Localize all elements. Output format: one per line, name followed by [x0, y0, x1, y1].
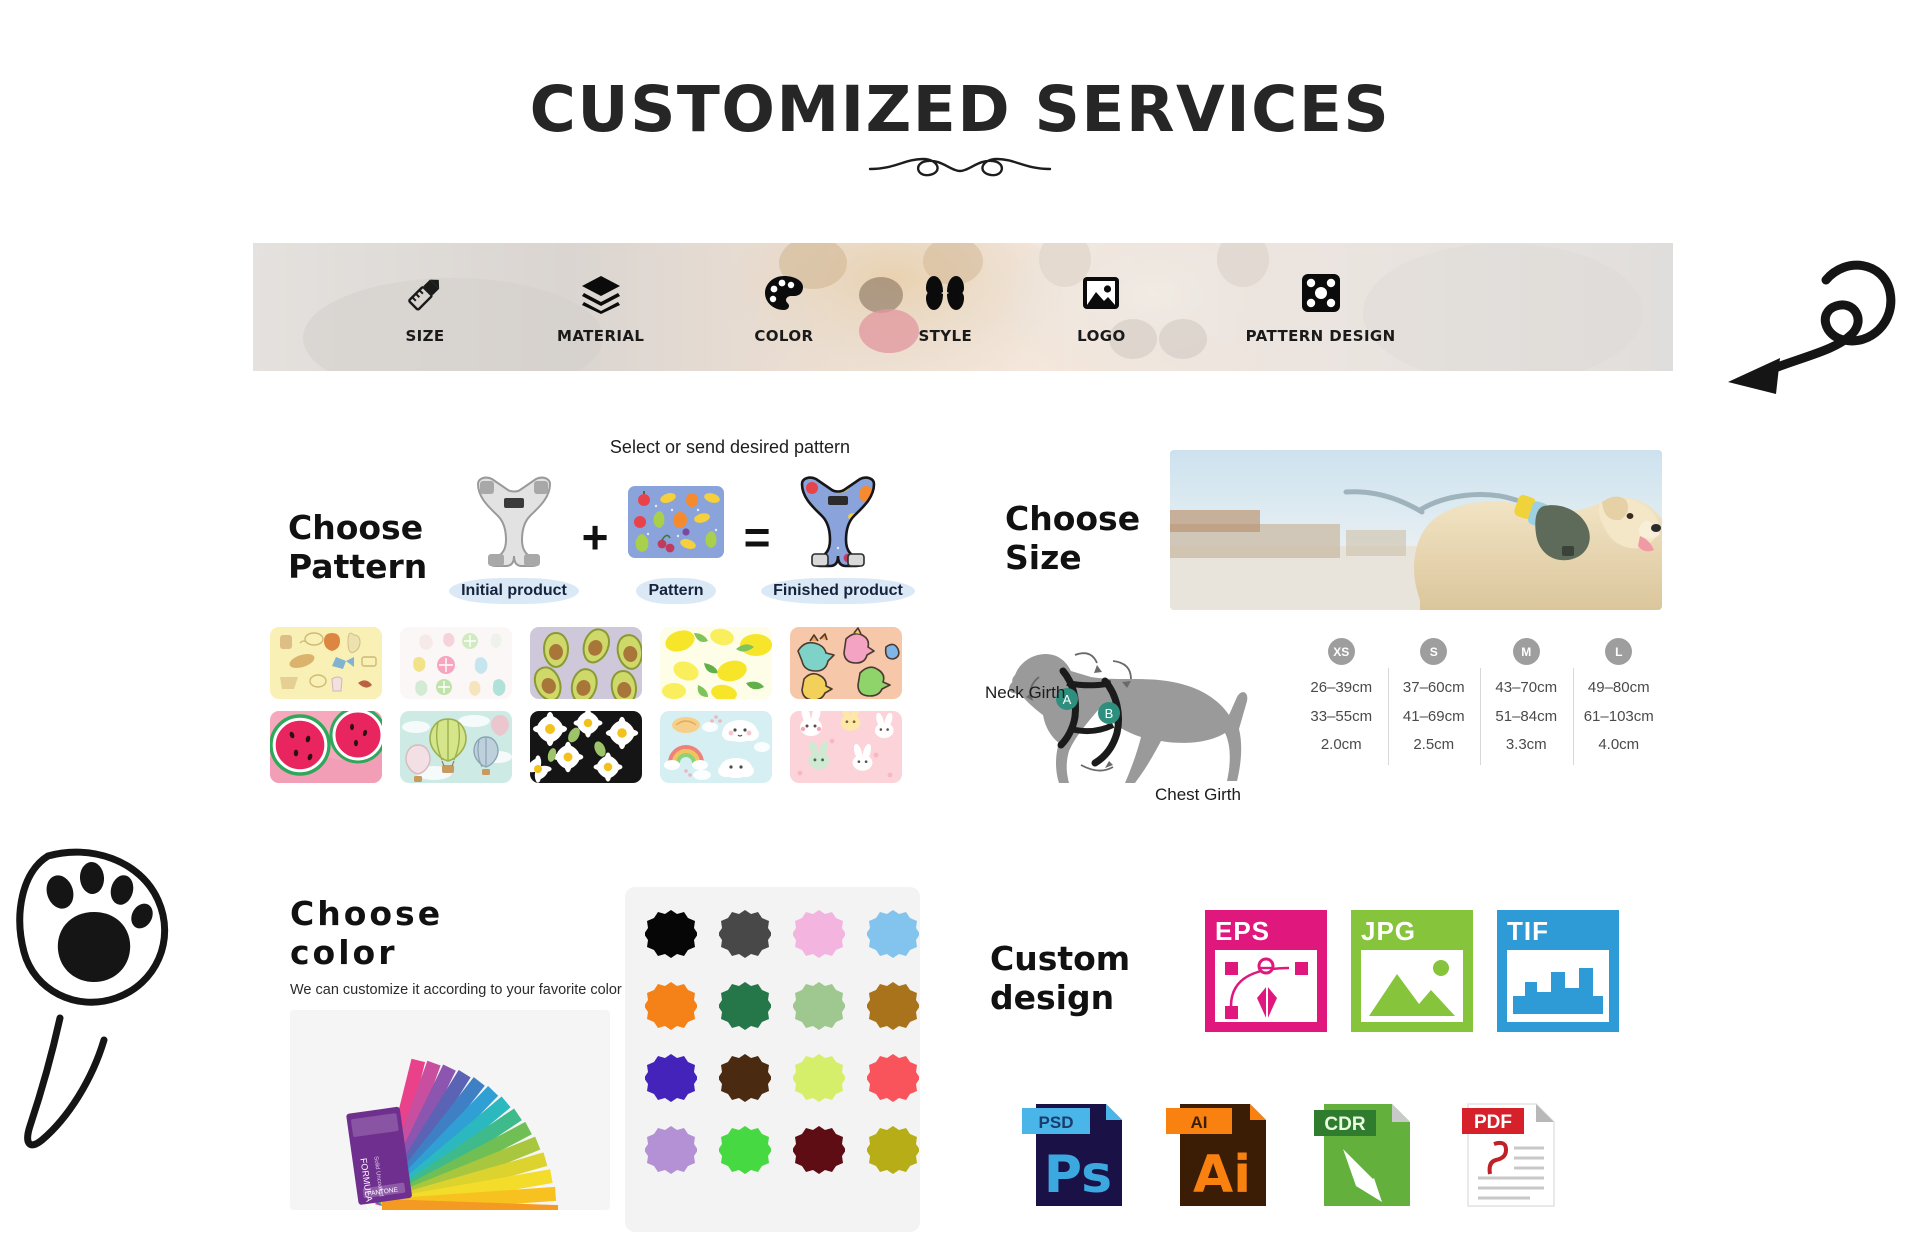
format-label: JPG	[1361, 916, 1416, 947]
service-label: STYLE	[918, 327, 972, 345]
color-swatch-orange[interactable]	[645, 981, 697, 1033]
size-badge: S	[1420, 638, 1447, 665]
butterfly-icon	[923, 270, 967, 316]
neck-girth-label: Neck Girth	[985, 683, 1065, 703]
app-mark: Ps	[1044, 1145, 1112, 1205]
color-swatch-lime-yellow[interactable]	[793, 1053, 845, 1105]
pattern-swatch-watermelon[interactable]	[270, 711, 382, 783]
paint-palette-icon	[762, 270, 806, 316]
flow-node-label: Pattern	[636, 578, 715, 604]
width-value: 3.3cm	[1506, 731, 1547, 760]
pattern-swatch-daisy-black[interactable]	[530, 711, 642, 783]
pattern-swatch-dinosaur[interactable]	[790, 627, 902, 699]
service-item-logo[interactable]: LOGO	[1077, 270, 1125, 345]
pattern-swatch-pastel-fruit[interactable]	[400, 627, 512, 699]
format-label: PDF	[1474, 1112, 1512, 1133]
color-swatch-forest-green[interactable]	[719, 981, 771, 1033]
format-card-ai[interactable]: AI Ai	[1164, 1088, 1272, 1210]
size-badge: M	[1513, 638, 1540, 665]
flow-node-initial-product: Initial product	[455, 470, 573, 604]
neck-value: 49–80cm	[1588, 674, 1650, 703]
choose-pattern-title: Choose Pattern	[288, 509, 458, 586]
color-swatch-dark-grey[interactable]	[719, 909, 771, 961]
format-label: CDR	[1324, 1114, 1365, 1135]
size-column-xs: XS 26–39cm 33–55cm 2.0cm	[1295, 638, 1388, 773]
page-title: CUSTOMIZED SERVICES	[0, 78, 1920, 141]
pattern-swatch-grid	[270, 627, 902, 783]
doc-format-list: PSD Ps AI Ai CDR	[1020, 1088, 1560, 1210]
labrador-with-leash-photo	[1170, 450, 1662, 610]
color-swatch-card	[625, 887, 920, 1232]
paw-print-icon	[8, 828, 198, 1158]
service-item-size[interactable]: SIZE	[403, 270, 447, 345]
color-swatch-black[interactable]	[645, 909, 697, 961]
pattern-swatch-avocado[interactable]	[530, 627, 642, 699]
size-column-s: S 37–60cm 41–69cm 2.5cm	[1388, 638, 1481, 773]
chest-value: 51–84cm	[1495, 703, 1557, 732]
ruler-pencil-icon	[403, 270, 447, 316]
service-icon-strip: SIZE MATERIAL	[253, 243, 1673, 371]
pattern-swatch-pink-bunny[interactable]	[790, 711, 902, 783]
curved-arrow-icon	[1718, 250, 1918, 450]
svg-text:B: B	[1105, 706, 1114, 721]
service-item-color[interactable]: COLOR	[754, 270, 813, 345]
size-column-m: M 43–70cm 51–84cm 3.3cm	[1480, 638, 1573, 773]
format-card-pdf[interactable]: PDF	[1452, 1088, 1560, 1210]
flow-node-finished-product: Finished product	[779, 470, 897, 604]
format-card-eps[interactable]: EPS	[1205, 910, 1327, 1032]
size-badge: L	[1605, 638, 1632, 665]
color-swatch-maroon[interactable]	[793, 1125, 845, 1177]
format-label: AI	[1191, 1113, 1208, 1132]
width-value: 2.0cm	[1321, 731, 1362, 760]
neck-value: 26–39cm	[1310, 674, 1372, 703]
page-root: CUSTOMIZED SERVICES	[0, 0, 1920, 1252]
choose-size-title: Choose Size	[1005, 500, 1165, 577]
color-swatch-grid	[645, 909, 900, 1177]
color-swatch-violet[interactable]	[645, 1053, 697, 1105]
service-label: LOGO	[1077, 327, 1125, 345]
choose-color-title: Choose color	[290, 895, 570, 972]
neck-value: 43–70cm	[1495, 674, 1557, 703]
format-card-cdr[interactable]: CDR	[1308, 1088, 1416, 1210]
width-value: 2.5cm	[1413, 731, 1454, 760]
color-swatch-light-purple[interactable]	[645, 1125, 697, 1177]
pantone-fan-photo: FORMULA GUIDE Solid Uncoated PANTONE	[290, 1010, 610, 1210]
choose-color-subtitle: We can customize it according to your fa…	[290, 982, 630, 998]
printed-dog-harness-icon	[786, 470, 890, 574]
format-card-jpg[interactable]: JPG	[1351, 910, 1473, 1032]
format-label: EPS	[1215, 916, 1270, 947]
pattern-swatch-food[interactable]	[270, 627, 382, 699]
chest-value: 61–103cm	[1584, 703, 1654, 732]
flow-node-label: Initial product	[449, 578, 579, 604]
title-line-2: color	[290, 934, 570, 973]
format-label: PSD	[1039, 1113, 1074, 1132]
flow-node-label: Finished product	[761, 578, 915, 604]
title-line-2: design	[990, 979, 1200, 1018]
color-swatch-dark-brown[interactable]	[719, 1053, 771, 1105]
pattern-swatch-rainbow-cloud[interactable]	[660, 711, 772, 783]
pattern-swatch-lemon[interactable]	[660, 627, 772, 699]
fruit-pattern-swatch-icon	[628, 470, 724, 574]
vector-format-list: EPS JPG	[1205, 910, 1619, 1032]
service-label: MATERIAL	[557, 327, 644, 345]
color-swatch-light-blue[interactable]	[867, 909, 919, 961]
custom-design-title: Custom design	[990, 940, 1200, 1017]
grey-dog-harness-icon	[462, 470, 566, 574]
service-label: SIZE	[405, 327, 444, 345]
size-column-l: L 49–80cm 61–103cm 4.0cm	[1573, 638, 1666, 773]
size-table: XS 26–39cm 33–55cm 2.0cm S 37–60cm 41–69…	[1295, 638, 1665, 773]
chest-value: 41–69cm	[1403, 703, 1465, 732]
title-line-1: Choose	[288, 509, 458, 548]
service-label: COLOR	[754, 327, 813, 345]
dog-measurement-diagram: A B	[995, 625, 1295, 785]
app-mark: Ai	[1193, 1145, 1251, 1205]
title-line-1: Custom	[990, 940, 1200, 979]
neck-value: 37–60cm	[1403, 674, 1465, 703]
layers-icon	[579, 270, 623, 316]
page-header: CUSTOMIZED SERVICES	[0, 78, 1920, 185]
service-item-style[interactable]: STYLE	[918, 270, 972, 345]
title-line-2: Size	[1005, 539, 1165, 578]
service-icon-list: SIZE MATERIAL	[253, 243, 1673, 371]
color-swatch-olive[interactable]	[867, 1125, 919, 1177]
service-item-pattern-design[interactable]: PATTERN DESIGN	[1246, 270, 1396, 345]
ornamental-divider-icon	[0, 153, 1920, 185]
plus-operator: +	[573, 514, 617, 560]
equals-operator: =	[735, 514, 779, 560]
color-swatch-bronze[interactable]	[867, 981, 919, 1033]
image-photo-icon	[1079, 270, 1123, 316]
size-badge: XS	[1328, 638, 1355, 665]
chest-girth-label: Chest Girth	[1155, 785, 1241, 805]
color-swatch-pink[interactable]	[793, 909, 845, 961]
pattern-flow-diagram: Select or send desired pattern Init	[455, 445, 965, 605]
pattern-grid-icon	[1299, 270, 1343, 316]
color-swatch-sage-green[interactable]	[793, 981, 845, 1033]
title-line-1: Choose	[1005, 500, 1165, 539]
pattern-swatch-hot-air-balloon[interactable]	[400, 711, 512, 783]
flow-node-pattern: Pattern	[617, 470, 735, 604]
service-item-material[interactable]: MATERIAL	[557, 270, 644, 345]
title-line-1: Choose	[290, 895, 570, 934]
chest-value: 33–55cm	[1310, 703, 1372, 732]
service-label: PATTERN DESIGN	[1246, 327, 1396, 345]
format-card-psd[interactable]: PSD Ps	[1020, 1088, 1128, 1210]
format-card-tif[interactable]: TIF	[1497, 910, 1619, 1032]
pattern-flow-caption: Select or send desired pattern	[565, 437, 895, 458]
color-swatch-bright-green[interactable]	[719, 1125, 771, 1177]
format-label: TIF	[1507, 916, 1549, 947]
title-line-2: Pattern	[288, 548, 458, 587]
width-value: 4.0cm	[1598, 731, 1639, 760]
color-swatch-coral-red[interactable]	[867, 1053, 919, 1105]
